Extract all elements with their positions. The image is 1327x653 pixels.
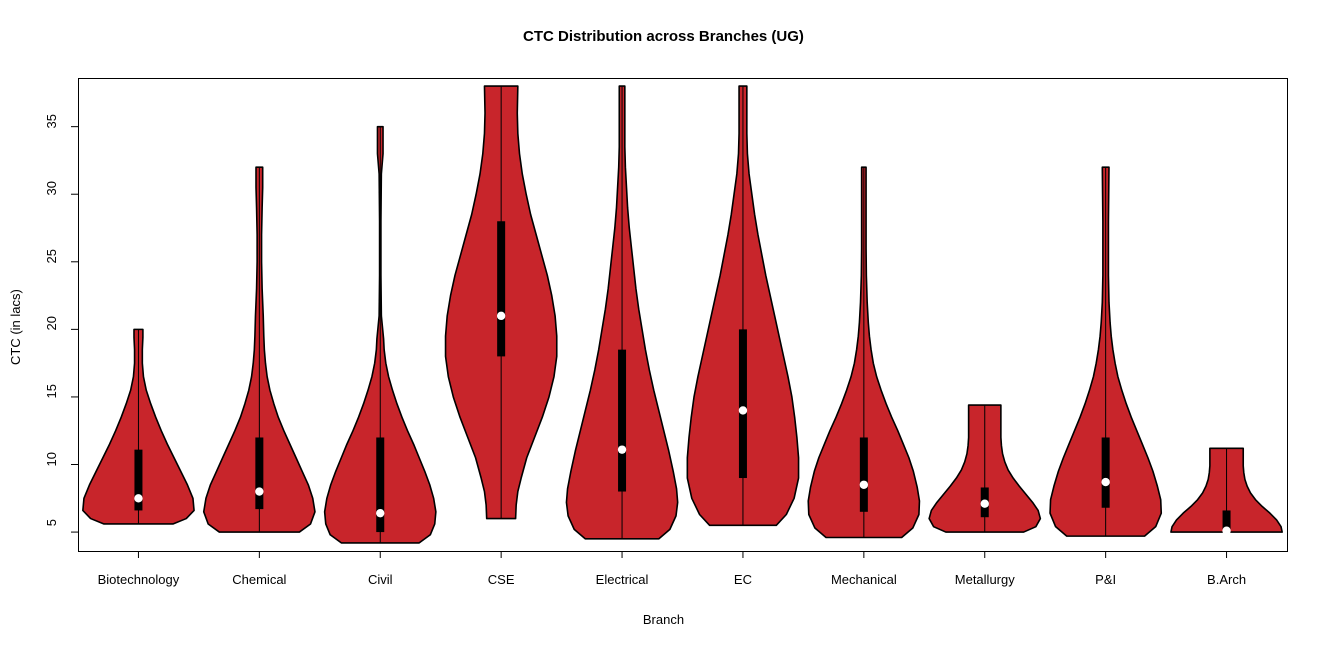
violin-plot-figure: CTC Distribution across Branches (UG) CT… xyxy=(0,0,1327,653)
median-marker xyxy=(618,445,626,453)
violin-p-i xyxy=(1050,167,1161,536)
y-tick-label: 5 xyxy=(44,519,60,526)
y-tick-label: 15 xyxy=(44,384,60,398)
violin-chemical xyxy=(204,167,315,532)
iqr-box xyxy=(376,437,384,532)
y-tick-label: 20 xyxy=(44,316,60,330)
iqr-box xyxy=(618,350,626,492)
iqr-box xyxy=(739,329,747,478)
violin-b-arch xyxy=(1171,448,1282,535)
median-marker xyxy=(860,481,868,489)
median-marker xyxy=(739,406,747,414)
median-marker xyxy=(1101,478,1109,486)
iqr-box xyxy=(497,221,505,356)
median-marker xyxy=(1222,527,1230,535)
violin-metallurgy xyxy=(929,405,1040,532)
iqr-box xyxy=(1102,437,1110,507)
iqr-box xyxy=(860,437,868,511)
violin-electrical xyxy=(566,86,677,539)
violin-ec xyxy=(687,86,798,525)
iqr-box xyxy=(255,437,263,509)
y-tick-label: 10 xyxy=(44,452,60,466)
violin-civil xyxy=(325,127,436,543)
median-marker xyxy=(376,509,384,517)
y-tick-label: 25 xyxy=(44,249,60,263)
y-tick-label: 30 xyxy=(44,181,60,195)
y-tick-label: 35 xyxy=(44,114,60,128)
median-marker xyxy=(497,312,505,320)
median-marker xyxy=(134,494,142,502)
median-marker xyxy=(255,487,263,495)
x-tick-label-b-arch: B.Arch xyxy=(1137,572,1317,587)
median-marker xyxy=(981,500,989,508)
violin-mechanical xyxy=(808,167,919,537)
plot-canvas xyxy=(0,0,1327,653)
violin-biotechnology xyxy=(83,329,194,524)
violin-cse xyxy=(446,86,557,518)
